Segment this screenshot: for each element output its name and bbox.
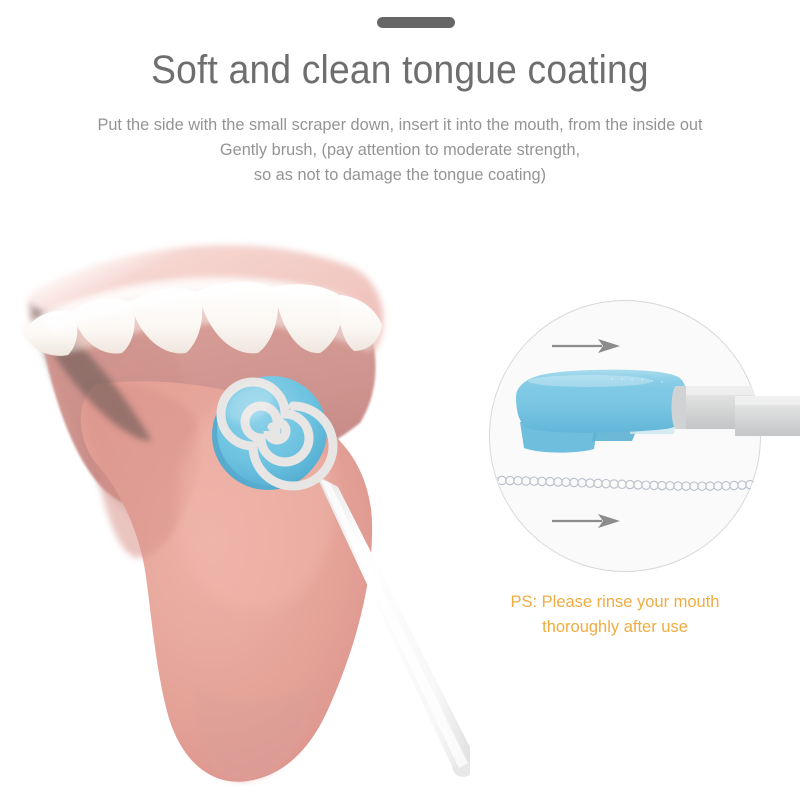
ps-note-line-2: thoroughly after use [460,614,770,639]
closeup-inset-circle [489,300,761,572]
subtitle-line-1: Put the side with the small scraper down… [16,112,784,137]
arrow-bottom-icon [552,514,620,528]
ps-note: PS: Please rinse your mouth thoroughly a… [455,589,775,639]
page-title: Soft and clean tongue coating [28,48,772,93]
subtitle-line-2: Gently brush, (pay attention to moderate… [16,137,784,162]
arrow-top-icon [552,339,620,353]
mouth-illustration [0,235,470,795]
tongue-surface-dotted-line [482,476,770,491]
subtitle-line-3: so as not to damage the tongue coating) [16,162,784,187]
ps-note-line-1: PS: Please rinse your mouth [460,589,770,614]
scraper-head-side [516,370,687,453]
header-divider-pill [377,17,455,28]
infographic-page: Soft and clean tongue coating Put the si… [0,0,800,800]
handle-tail [735,394,800,440]
page-subtitle: Put the side with the small scraper down… [0,112,800,187]
